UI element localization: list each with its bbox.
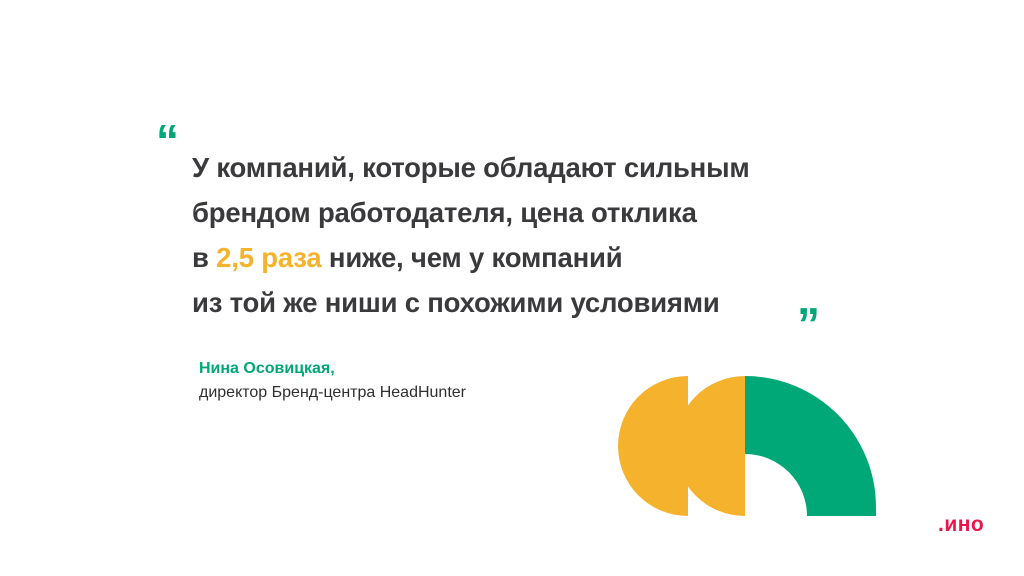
quote-line: из той же ниши с похожими условиями: [192, 280, 872, 325]
quote-close-mark-icon: ”: [797, 301, 819, 347]
quote-text: У компаний, которые обладают сильным бре…: [192, 145, 872, 325]
quote-open-mark-icon: “: [156, 118, 178, 164]
green-quarter-arch-icon: [745, 376, 876, 516]
quote-line-text: У компаний, которые обладают сильным: [192, 152, 750, 183]
quote-line: У компаний, которые обладают сильным: [192, 145, 872, 190]
quote-highlight: 2,5 раза: [216, 242, 321, 273]
attribution-role: директор Бренд-центра HeadHunter: [199, 381, 466, 405]
attribution-name: Нина Осовицкая,: [199, 357, 466, 381]
quote-line-text: брендом работодателя, цена отклика: [192, 197, 697, 228]
quote-line: брендом работодателя, цена отклика: [192, 190, 872, 235]
quote-mark-logo: [618, 376, 876, 516]
quote-line-text: в: [192, 242, 216, 273]
slide-canvas: “ У компаний, которые обладают сильным б…: [0, 0, 1024, 576]
quote-line-text: ниже, чем у компаний: [321, 242, 622, 273]
quote-line-text: из той же ниши с похожими условиями: [192, 287, 720, 318]
quote-line: в 2,5 раза ниже, чем у компаний: [192, 235, 872, 280]
wordmark-logo: .ино: [938, 514, 984, 535]
attribution: Нина Осовицкая, директор Бренд-центра He…: [199, 357, 466, 405]
